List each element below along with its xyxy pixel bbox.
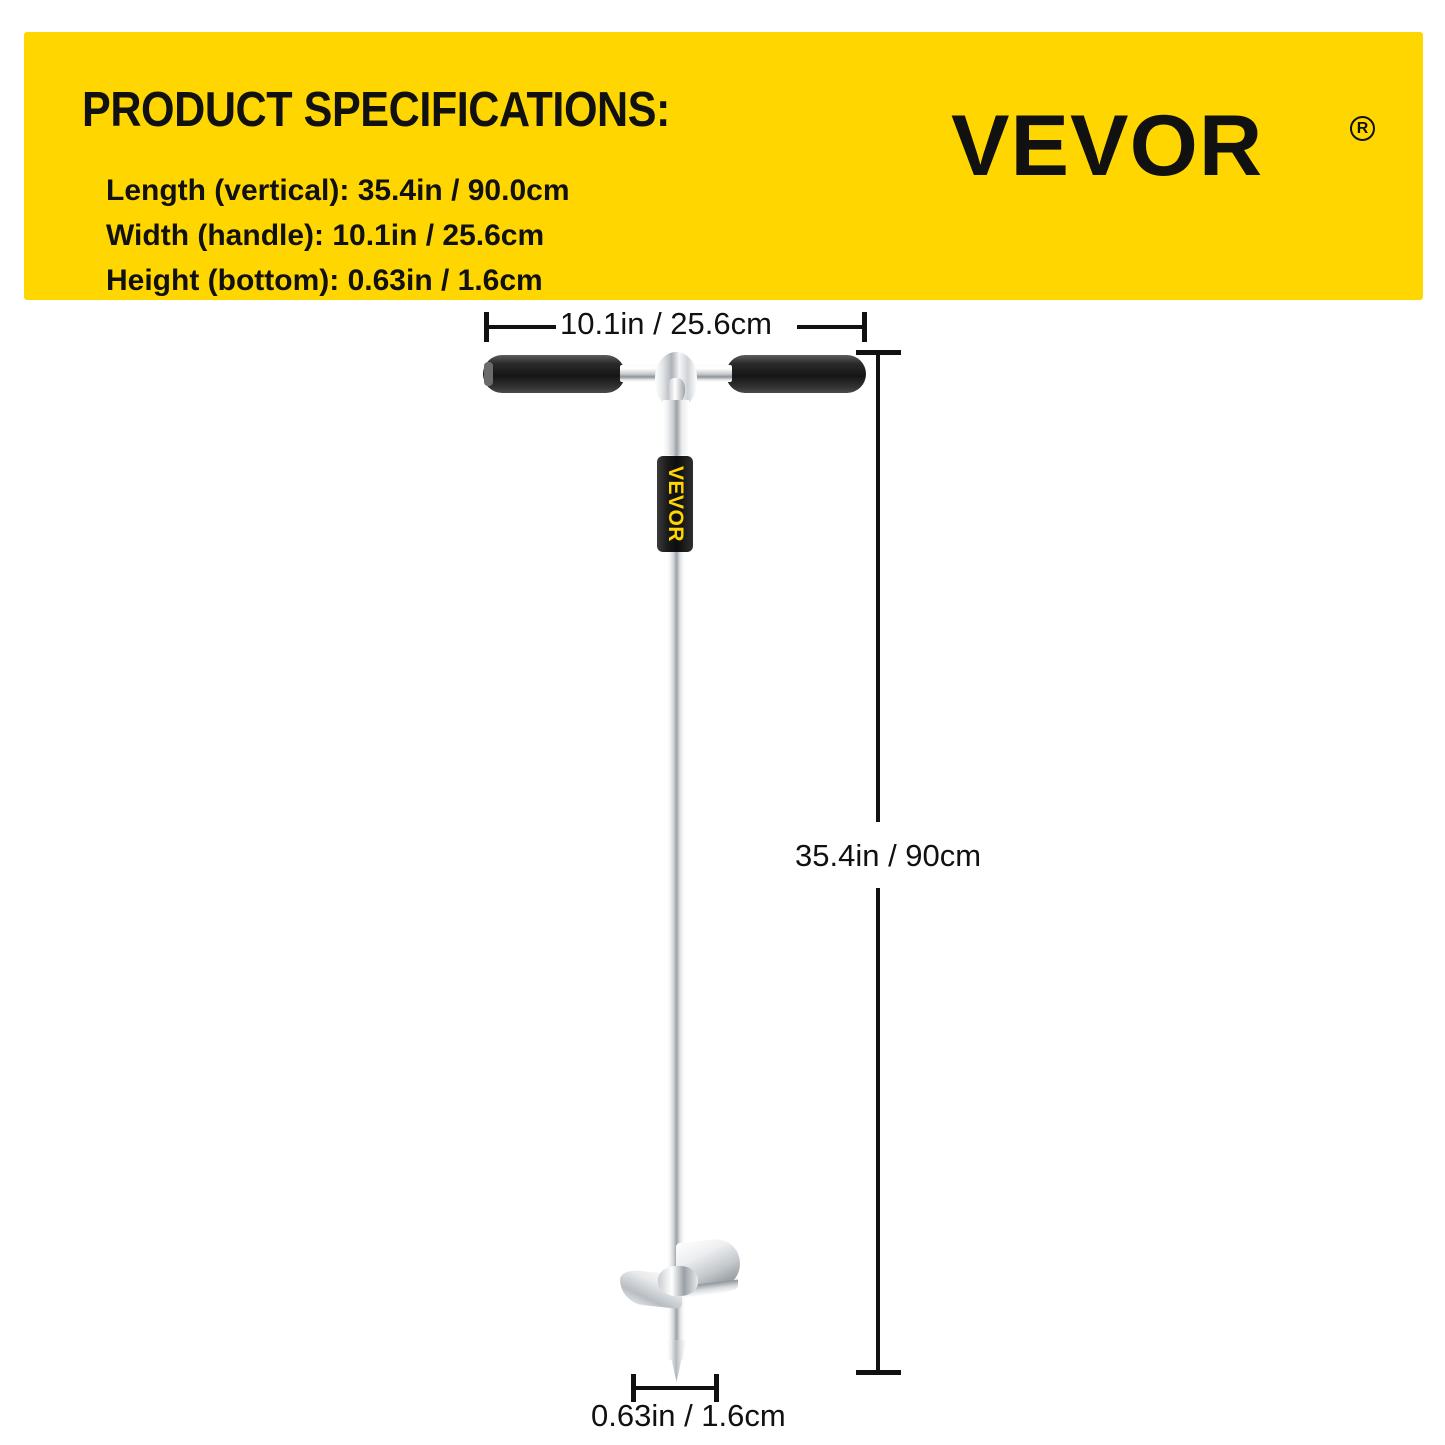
product-spec-image: PRODUCT SPECIFICATIONS: Length (vertical… [0, 0, 1445, 1445]
auger-blade-hub [658, 1266, 698, 1296]
brand-logo: VEVOR R [951, 100, 1381, 192]
length-dimension-label: 35.4in / 90cm [795, 838, 981, 874]
handle-grip-right [726, 355, 866, 393]
auger-tip [667, 1340, 686, 1382]
width-dimension-label: 10.1in / 25.6cm [560, 306, 772, 342]
width-dim-line-right [797, 325, 865, 329]
width-dim-line-left [486, 325, 556, 329]
auger-blade-right [676, 1237, 740, 1298]
spec-line-length: Length (vertical): 35.4in / 90.0cm [106, 168, 806, 213]
handle-grip-left [483, 355, 625, 393]
length-dim-line-lower [876, 888, 880, 1372]
handle-grip-left-cap [484, 362, 493, 386]
spec-line-width: Width (handle): 10.1in / 25.6cm [106, 213, 806, 258]
registered-trademark-icon: R [1350, 116, 1375, 141]
spec-list: Length (vertical): 35.4in / 90.0cm Width… [106, 168, 806, 303]
length-dim-line-upper [876, 352, 880, 822]
page-title: PRODUCT SPECIFICATIONS: [82, 86, 670, 135]
shaft-brand-text: VEVOR [657, 456, 693, 552]
spec-banner: PRODUCT SPECIFICATIONS: Length (vertical… [24, 32, 1423, 300]
handle-hub-inner [667, 378, 685, 404]
tip-dim-line [633, 1386, 715, 1390]
auger-blade-left [620, 1269, 682, 1310]
handle-hub [655, 352, 697, 408]
spec-line-height: Height (bottom): 0.63in / 1.6cm [106, 258, 806, 303]
auger-blade-right-edge [680, 1279, 738, 1298]
shaft-upper-section [663, 400, 689, 466]
tip-dimension-label: 0.63in / 1.6cm [591, 1398, 786, 1434]
shaft-brand-sleeve [657, 456, 693, 552]
brand-logo-text: VEVOR [951, 100, 1263, 192]
shaft [667, 455, 686, 1360]
handle-crossbar [620, 365, 732, 382]
